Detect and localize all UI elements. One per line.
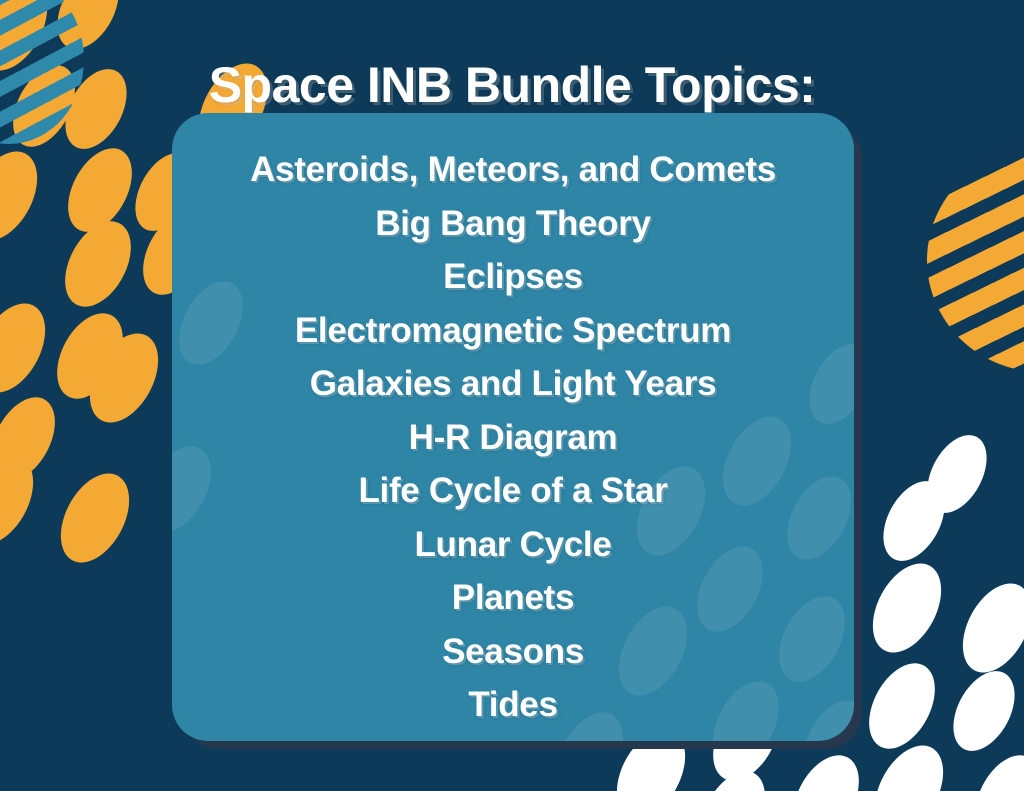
white-ellipse (861, 734, 957, 791)
orange-ellipse (0, 140, 51, 252)
list-item: Electromagnetic Spectrum (196, 304, 830, 358)
list-item: Lunar Cycle (196, 518, 830, 572)
orange-ellipse (44, 302, 137, 410)
white-ellipse (962, 745, 1024, 791)
list-item: H-R Diagram (196, 411, 830, 465)
page-title: Space INB Bundle Topics: (0, 56, 1024, 114)
white-ellipse (688, 761, 778, 791)
orange-ellipse (0, 444, 47, 556)
list-item: Asteroids, Meteors, and Comets (196, 143, 830, 197)
list-item: Planets (196, 571, 830, 625)
orange-ellipse (55, 138, 145, 243)
list-item: Tides (196, 678, 830, 732)
orange-ellipse (76, 322, 172, 434)
white-ellipse (780, 744, 873, 791)
stripe-pattern-orange (927, 148, 1024, 372)
orange-ellipse (0, 387, 68, 492)
list-item: Seasons (196, 625, 830, 679)
white-ellipse (941, 661, 1024, 761)
poster-canvas: Space INB Bundle Topics: Asteroids, Mete… (0, 0, 1024, 791)
list-item: Life Cycle of a Star (196, 464, 830, 518)
white-ellipse (856, 652, 949, 760)
white-ellipse (949, 572, 1024, 684)
white-ellipse (915, 425, 999, 523)
white-ellipse (859, 552, 955, 664)
orange-ellipse (47, 462, 143, 574)
list-item: Big Bang Theory (196, 197, 830, 251)
white-ellipse (871, 471, 957, 571)
list-item: Galaxies and Light Years (196, 357, 830, 411)
orange-ellipse (52, 210, 145, 318)
orange-ellipse (0, 292, 59, 404)
topics-list: Asteroids, Meteors, and Comets Big Bang … (172, 113, 854, 732)
list-item: Eclipses (196, 250, 830, 304)
topics-card: Asteroids, Meteors, and Comets Big Bang … (172, 113, 854, 741)
striped-disc-right-icon (927, 148, 1024, 372)
